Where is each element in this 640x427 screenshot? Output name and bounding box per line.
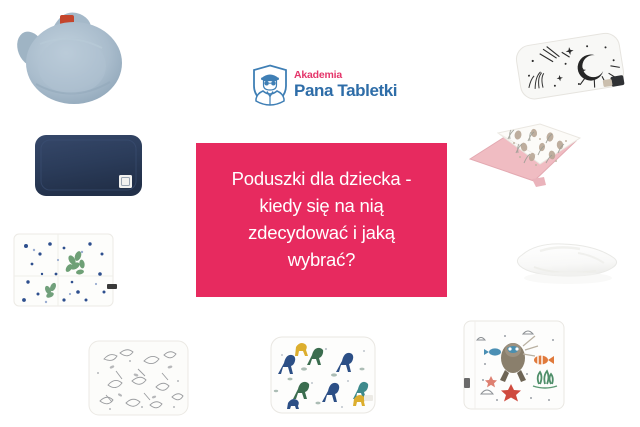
brand-logo-text: Akademia Pana Tabletki — [294, 70, 397, 99]
brand-name-line1: Akademia — [294, 70, 397, 81]
product-image-plain-white-pillow — [512, 233, 622, 295]
product-image-ocean-otter-pillow — [461, 318, 567, 412]
brand-name-line2: Pana Tabletki — [294, 82, 397, 99]
product-image-dinosaur-pillow — [268, 333, 378, 417]
title-banner: Poduszki dla dziecka - kiedy się na nią … — [196, 143, 447, 297]
product-image-navy-flat-pillow — [33, 132, 145, 200]
slide-canvas: Akademia Pana Tabletki Poduszki dla dzie… — [0, 0, 640, 427]
product-image-pink-bunny-pillow — [462, 113, 582, 195]
pharmacist-shield-icon — [252, 64, 288, 106]
product-image-koala-plush-pillow — [6, 2, 134, 110]
brand-logo: Akademia Pana Tabletki — [252, 62, 402, 107]
product-image-grey-botanical-pillow — [86, 337, 191, 419]
product-image-floral-blue-green-pillow — [12, 230, 117, 310]
banner-headline: Poduszki dla dziecka - kiedy się na nią … — [232, 166, 412, 273]
product-image-celestial-moon-pillow — [512, 25, 630, 107]
